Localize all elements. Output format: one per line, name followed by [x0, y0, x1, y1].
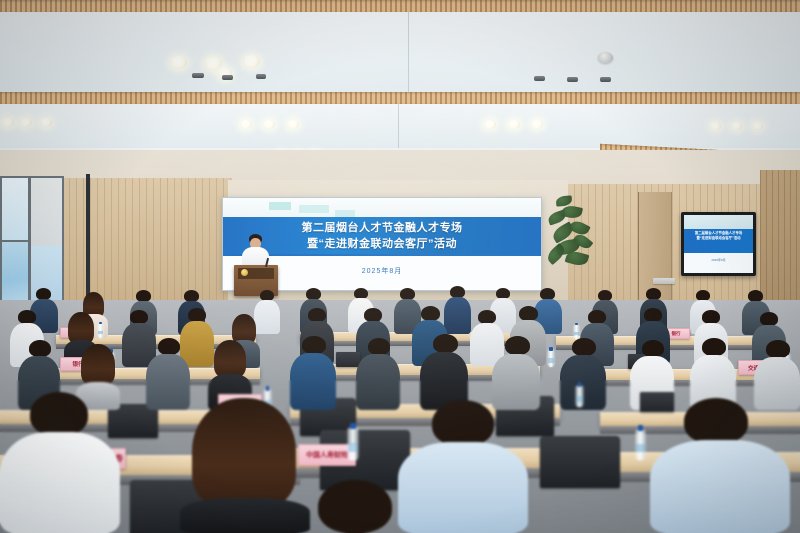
monitor-title-line-2: 暨“走进财金联动会客厅”活动: [684, 236, 753, 241]
ceiling-downlight: [484, 120, 496, 129]
water-bottle: [348, 428, 358, 460]
table-placard-label: 银行: [672, 331, 681, 337]
attendee-foreground: [0, 392, 120, 533]
attendee: [356, 338, 400, 410]
ceiling-downlight: [287, 120, 299, 129]
ceiling-vent: [256, 74, 266, 79]
monitor-top-band: [684, 215, 753, 229]
ceiling-vent: [222, 75, 233, 80]
ceiling-vent: [192, 73, 204, 78]
water-bottle: [636, 430, 645, 460]
slide-decor-block-3: [335, 210, 355, 217]
ceiling-downlight: [508, 120, 520, 129]
attendee-foreground: [650, 398, 790, 533]
attendee-foreground: [398, 400, 528, 533]
ceiling-vent: [600, 77, 611, 82]
attendee-foreground: [300, 480, 410, 533]
ceiling-downlight: [731, 122, 742, 130]
conference-photo: 第二届烟台人才节金融人才专场 暨“走进财金联动会客厅”活动 2025年8月 第二…: [0, 0, 800, 533]
water-bottle: [98, 324, 103, 338]
ceiling-downlight: [752, 122, 763, 130]
wall-sign: [653, 278, 675, 284]
slide-decor-block-2: [299, 205, 329, 213]
wall-mounted-monitor: 第二届烟台人才节金融人才专场 暨“走进财金联动会客厅”活动 2025年8月: [681, 212, 756, 276]
attendee: [492, 336, 540, 410]
window-blind: [30, 178, 62, 246]
ceiling-vent: [534, 76, 545, 81]
attendee: [560, 338, 606, 410]
podium-area: [228, 234, 292, 296]
ceiling-speaker: [598, 52, 613, 63]
lectern-emblem-icon: [241, 269, 248, 276]
ceiling-downlight: [205, 57, 222, 70]
ceiling-downlight: [710, 122, 721, 130]
slide-decor-block-1: [269, 202, 291, 210]
ceiling-downlight: [20, 118, 32, 127]
slide-date: 2025年8月: [362, 268, 402, 275]
attendee-foreground: [180, 398, 310, 533]
attendee: [420, 334, 468, 410]
ceiling-downlight: [531, 120, 543, 129]
ceiling-downlight: [170, 56, 187, 69]
table-placard-label: 中国人寿财险: [306, 450, 348, 460]
chair: [540, 436, 620, 488]
monitor-screen: 第二届烟台人才节金融人才专场 暨“走进财金联动会客厅”活动 2025年8月: [684, 215, 753, 273]
ceiling-downlight: [240, 120, 252, 129]
monitor-title: 第二届烟台人才节金融人才专场 暨“走进财金联动会客厅”活动: [684, 231, 753, 241]
ceiling-downlight: [263, 120, 275, 129]
water-bottle: [548, 350, 554, 367]
ceiling-downlight: [243, 55, 260, 68]
ceiling-downlight: [2, 118, 14, 127]
water-bottle: [574, 325, 579, 339]
attendee: [444, 286, 471, 336]
monitor-date: 2025年8月: [684, 258, 753, 262]
ceiling-downlight: [40, 118, 52, 127]
water-bottle: [576, 386, 583, 407]
window-glass-upper: [2, 178, 28, 240]
ceiling-vent: [567, 77, 578, 82]
